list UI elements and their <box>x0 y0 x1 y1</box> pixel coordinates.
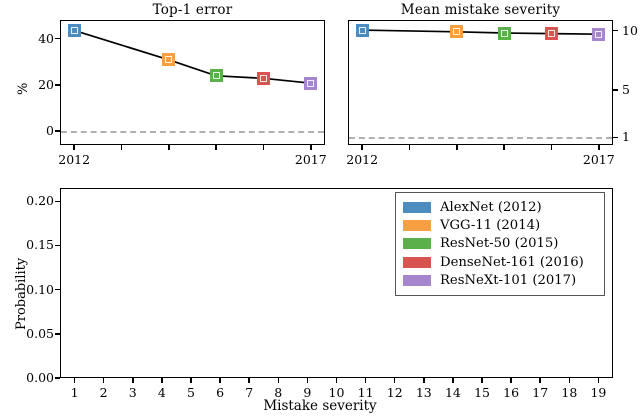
x-tick-mark <box>481 378 483 383</box>
y-tick-mark <box>55 245 60 247</box>
x-tick-mark <box>598 378 600 383</box>
y-tick-label: 0.20 <box>8 193 54 208</box>
x-tick-mark <box>336 378 338 383</box>
x-tick-mark <box>510 378 512 383</box>
axis-label-mistake-severity: Mistake severity <box>0 398 640 414</box>
y-tick-label: 0.05 <box>8 326 54 341</box>
legend-swatch-4 <box>403 257 431 268</box>
x-tick-mark <box>161 378 163 383</box>
legend-item: ResNeXt-101 (2017) <box>403 272 596 290</box>
x-tick-mark <box>74 378 76 383</box>
x-tick-mark <box>307 378 309 383</box>
data-point-marker-inner <box>595 31 602 38</box>
legend-item: DenseNet-161 (2016) <box>403 253 596 271</box>
legend-swatch-5 <box>403 275 431 286</box>
x-tick-mark <box>539 378 541 383</box>
x-tick-mark <box>103 378 105 383</box>
data-point-marker-inner <box>548 30 555 37</box>
y-tick-mark <box>55 289 60 291</box>
legend-item: AlexNet (2012) <box>403 198 596 216</box>
y-tick-label: 0.00 <box>8 370 54 385</box>
legend-label: DenseNet-161 (2016) <box>440 256 584 269</box>
x-tick-mark <box>132 378 134 383</box>
legend-label: ResNet-50 (2015) <box>440 237 558 250</box>
x-tick-mark <box>423 378 425 383</box>
data-point-marker-inner <box>501 30 508 37</box>
legend-swatch-2 <box>403 220 431 231</box>
y-tick-mark <box>55 377 60 379</box>
data-point-marker-inner <box>359 27 366 34</box>
x-tick-mark <box>452 378 454 383</box>
legend-swatch-1 <box>403 202 431 213</box>
x-tick-mark <box>569 378 571 383</box>
legend-label: ResNeXt-101 (2017) <box>440 274 576 287</box>
x-tick-label: 19 <box>578 385 618 400</box>
legend-item: ResNet-50 (2015) <box>403 235 596 253</box>
y-tick-mark <box>55 201 60 203</box>
x-tick-mark <box>190 378 192 383</box>
x-tick-mark <box>278 378 280 383</box>
x-tick-mark <box>248 378 250 383</box>
legend-label: VGG-11 (2014) <box>440 219 540 232</box>
y-tick-label: 0.10 <box>8 282 54 297</box>
x-tick-mark <box>394 378 396 383</box>
data-point-marker-inner <box>453 28 460 35</box>
legend-swatch-3 <box>403 238 431 249</box>
y-tick-label: 0.15 <box>8 237 54 252</box>
x-tick-mark <box>219 378 221 383</box>
y-tick-mark <box>55 333 60 335</box>
legend-item: VGG-11 (2014) <box>403 216 596 234</box>
legend-label: AlexNet (2012) <box>440 201 542 214</box>
figure-canvas: Top-1 error % 0204020122017 Mean mistake… <box>0 0 640 420</box>
x-tick-mark <box>365 378 367 383</box>
legend: AlexNet (2012)VGG-11 (2014)ResNet-50 (20… <box>395 192 605 296</box>
